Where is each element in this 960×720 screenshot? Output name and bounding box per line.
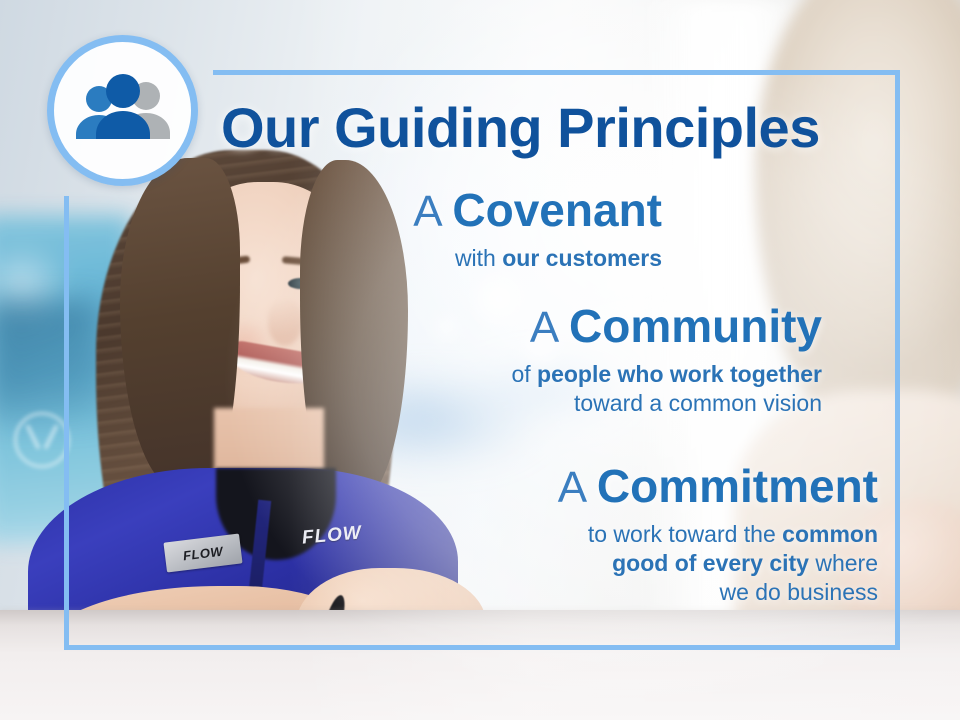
- subtitle-text: of: [511, 361, 537, 387]
- people-group-icon: [70, 73, 176, 149]
- principle-article: A: [413, 187, 452, 236]
- principle-block-commitment: A Commitment to work toward the commongo…: [400, 462, 878, 607]
- principle-article: A: [530, 303, 569, 352]
- principle-subtitle-line: we do business: [400, 578, 878, 607]
- subtitle-emphasis: our customers: [502, 245, 662, 271]
- principle-block-covenant: A Covenant with our customers: [300, 186, 662, 273]
- subtitle-text: we do business: [719, 579, 878, 605]
- principle-keyword: Commitment: [597, 460, 878, 512]
- principle-keyword: Covenant: [452, 184, 662, 236]
- principle-title: A Covenant: [300, 186, 662, 236]
- principle-block-community: A Community of people who work togethert…: [340, 302, 822, 418]
- principle-article: A: [558, 463, 597, 512]
- employee-nose: [268, 300, 302, 346]
- principle-subtitle-line: of people who work together: [340, 360, 822, 389]
- principle-subtitle-line: to work toward the common: [400, 520, 878, 549]
- guiding-principles-graphic: FLOW FLOW Our Guiding P: [0, 0, 960, 720]
- subtitle-emphasis: common: [782, 521, 878, 547]
- principle-subtitle-line: with our customers: [300, 244, 662, 273]
- principle-subtitle-line: toward a common vision: [340, 389, 822, 418]
- subtitle-text: to work toward the: [588, 521, 782, 547]
- desk-surface: [0, 610, 960, 720]
- principle-subtitle: to work toward the commongood of every c…: [400, 520, 878, 607]
- subtitle-text: with: [455, 245, 502, 271]
- subtitle-text: toward a common vision: [574, 390, 822, 416]
- principle-title: A Community: [340, 302, 822, 352]
- principle-title: A Commitment: [400, 462, 878, 512]
- people-group-badge: [47, 35, 198, 186]
- subtitle-emphasis: good of every city: [612, 550, 809, 576]
- subtitle-text: where: [809, 550, 878, 576]
- name-badge-logo-text: FLOW: [182, 543, 224, 563]
- principle-subtitle-line: good of every city where: [400, 549, 878, 578]
- principle-keyword: Community: [569, 300, 822, 352]
- page-title: Our Guiding Principles: [221, 95, 820, 160]
- subtitle-emphasis: people who work together: [537, 361, 822, 387]
- principle-subtitle: with our customers: [300, 244, 662, 273]
- principle-subtitle: of people who work togethertoward a comm…: [340, 360, 822, 418]
